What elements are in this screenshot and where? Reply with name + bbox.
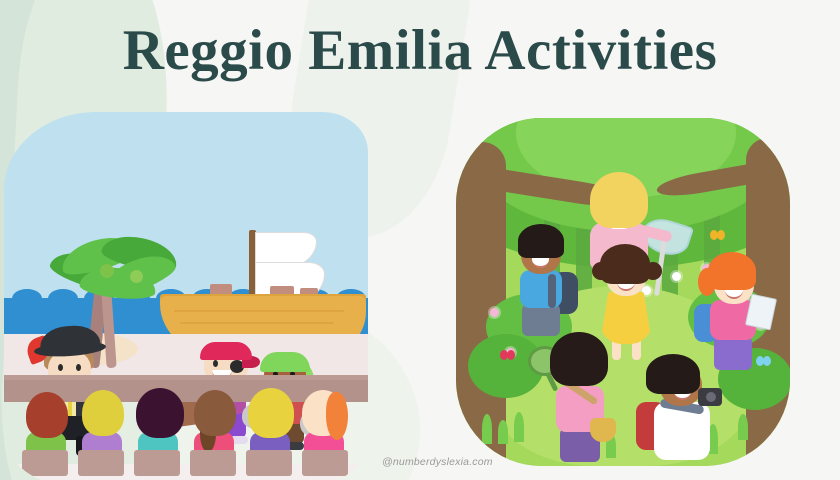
hull-plank (174, 310, 344, 312)
butterfly-wing (717, 230, 725, 240)
eye (213, 360, 218, 367)
audience-head (194, 390, 236, 436)
grass-blade (482, 414, 492, 444)
coconut (130, 270, 143, 283)
forest-flower (490, 308, 499, 317)
audience-seat (302, 450, 348, 476)
camera-lens (706, 392, 716, 402)
eye (58, 364, 63, 371)
palm-crown (56, 238, 176, 308)
audience-seat (22, 450, 68, 476)
site-watermark: @numberdyslexia.com (382, 456, 493, 468)
grass-blade (498, 420, 508, 444)
grass-blade (514, 412, 524, 442)
audience-seat (190, 450, 236, 476)
audience-head (248, 388, 294, 438)
backpack-strap (548, 274, 556, 308)
poster-canvas: Reggio Emilia Activities (0, 0, 840, 480)
smile (532, 258, 549, 268)
audience-ponytail (326, 392, 348, 440)
character-child-camera (638, 354, 738, 466)
audience-head (82, 390, 124, 436)
child-hair (600, 244, 650, 284)
audience-seat (246, 450, 292, 476)
audience-head (136, 388, 184, 438)
forest-flower (672, 272, 681, 281)
audience-seat (78, 450, 124, 476)
child-hair (550, 332, 608, 386)
audience-seat (134, 450, 180, 476)
smile (725, 289, 743, 299)
character-child-blue-shirt (508, 224, 578, 344)
wave-crest (12, 289, 42, 308)
child-hair (518, 224, 564, 258)
child-hair (646, 354, 700, 394)
butterfly-wing (507, 350, 515, 360)
grass-blade (738, 414, 748, 440)
eye (76, 364, 81, 371)
hull-plank (180, 322, 334, 324)
teacher-hair (590, 172, 648, 228)
audience-row (4, 374, 368, 480)
illustration-forest-walk: A teacher with a butterfly net leading f… (456, 118, 790, 466)
page-title: Reggio Emilia Activities (0, 18, 840, 84)
audience-head (26, 392, 68, 438)
coconut (100, 264, 114, 278)
illustration-pirate-play: Children performing a pirate play on a s… (4, 112, 368, 480)
child-hair (708, 252, 756, 290)
pirate-bandana (260, 352, 310, 372)
satchel-bag (590, 418, 616, 442)
character-child-magnifier (534, 332, 630, 466)
pirate-bandana (200, 342, 252, 360)
